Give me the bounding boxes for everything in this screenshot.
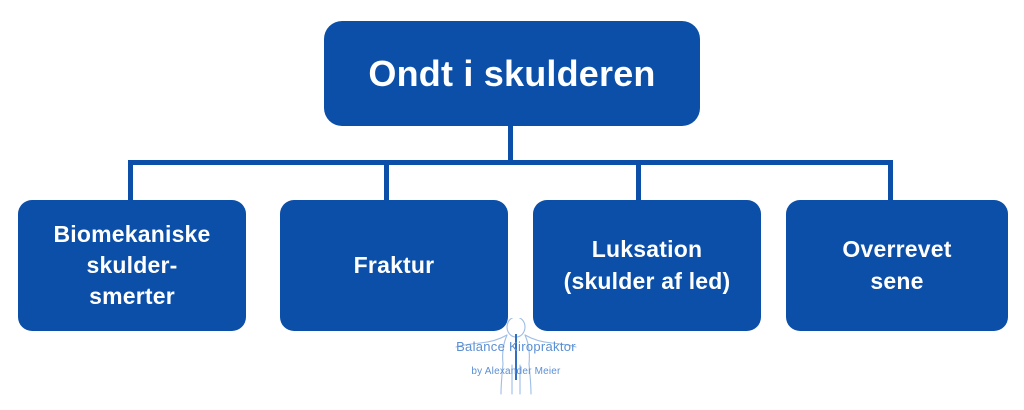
node-root[interactable]: Ondt i skulderen [324,21,700,126]
connector-root-stem [508,124,513,164]
connector-drop-3 [636,160,641,204]
node-child-luksation[interactable]: Luksation (skulder af led) [533,200,761,331]
node-child-overrevet-sene[interactable]: Overrevet sene [786,200,1008,331]
connector-horizontal-bar [128,160,892,165]
node-child-label: Biomekaniske skulder- smerter [45,219,218,312]
node-child-label: Fraktur [346,250,443,281]
node-child-fraktur[interactable]: Fraktur [280,200,508,331]
diagram-canvas: Ondt i skulderen Biomekaniske skulder- s… [0,0,1024,410]
connector-drop-4 [888,160,893,204]
watermark-brand: Balance Kiropraktor [448,339,584,354]
watermark-byline: by Alexander Meier [448,366,584,377]
vitruvian-person-icon [448,318,584,396]
node-child-label: Luksation (skulder af led) [556,234,739,296]
node-child-label: Overrevet sene [834,234,959,296]
node-root-label: Ondt i skulderen [360,53,663,95]
node-child-biomekaniske-skuldersmerter[interactable]: Biomekaniske skulder- smerter [18,200,246,331]
connector-drop-1 [128,160,133,204]
watermark-logo: Balance Kiropraktor by Alexander Meier [448,318,584,396]
connector-drop-2 [384,160,389,204]
